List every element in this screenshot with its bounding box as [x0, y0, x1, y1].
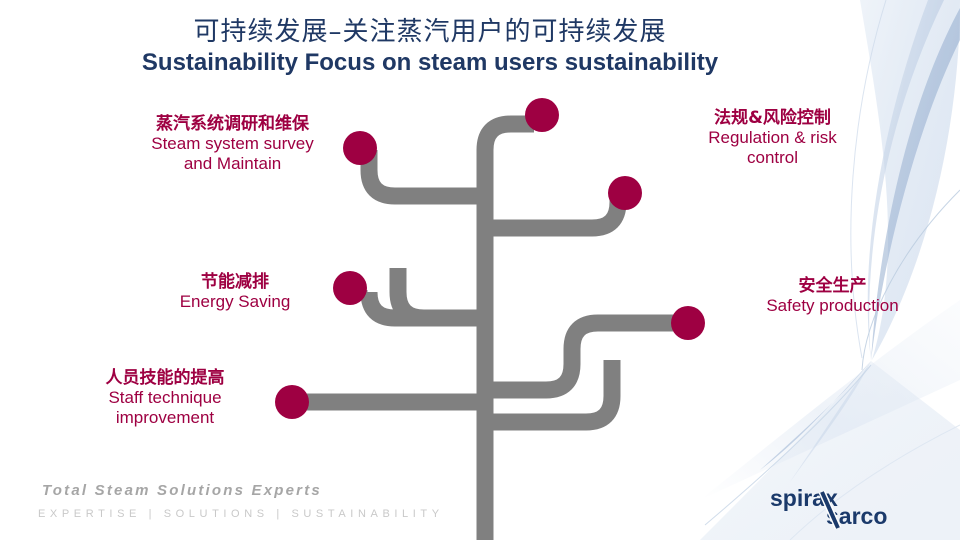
label-energy-chinese: 节能减排: [150, 272, 320, 292]
page-title: 可持续发展–关注蒸汽用户的可持续发展 Sustainability Focus …: [0, 16, 860, 78]
branch-to-safety-node: [485, 323, 678, 390]
label-staff-chinese: 人员技能的提高: [70, 368, 260, 388]
node-energy-saving: [333, 271, 367, 305]
footer-pillars: EXPERTISE | SOLUTIONS | SUSTAINABILITY: [38, 508, 444, 520]
label-regulation-chinese: 法规&风险控制: [665, 108, 880, 128]
node-safety-production: [671, 306, 705, 340]
page-title-english: Sustainability Focus on steam users sust…: [0, 48, 860, 78]
label-regulation-risk-control: 法规&风险控制 Regulation & risk control: [665, 108, 880, 168]
label-survey-english-line1: Steam system survey: [120, 134, 345, 154]
slide-canvas: 可持续发展–关注蒸汽用户的可持续发展 Sustainability Focus …: [0, 0, 960, 540]
node-staff-technique: [275, 385, 309, 419]
node-regulation-top: [525, 98, 559, 132]
label-regulation-english-line2: control: [665, 148, 880, 168]
label-survey-chinese: 蒸汽系统调研和维保: [120, 114, 345, 134]
label-energy-english-line1: Energy Saving: [150, 292, 320, 312]
label-survey-english-line2: and Maintain: [120, 154, 345, 174]
branch-to-energy-node: [369, 292, 485, 318]
label-staff-technique: 人员技能的提高 Staff technique improvement: [70, 368, 260, 428]
spirax-sarco-logo: spirax sarco: [768, 484, 948, 532]
label-safety-production: 安全生产 Safety production: [735, 276, 930, 316]
branch-to-top-node: [485, 124, 534, 235]
label-safety-chinese: 安全生产: [735, 276, 930, 296]
label-safety-english-line1: Safety production: [735, 296, 930, 316]
branch-to-survey-node: [369, 150, 485, 196]
label-energy-saving: 节能减排 Energy Saving: [150, 272, 320, 312]
label-steam-system-survey: 蒸汽系统调研和维保 Steam system survey and Mainta…: [120, 114, 345, 174]
branch-tree-diagram: [0, 0, 960, 540]
label-staff-english-line1: Staff technique: [70, 388, 260, 408]
label-regulation-english-line1: Regulation & risk: [665, 128, 880, 148]
node-steam-system-survey: [343, 131, 377, 165]
branch-to-upper-right-node: [485, 193, 618, 228]
footer-tagline: Total Steam Solutions Experts: [42, 482, 322, 499]
node-regulation-right: [608, 176, 642, 210]
page-title-chinese: 可持续发展–关注蒸汽用户的可持续发展: [0, 16, 860, 48]
label-staff-english-line2: improvement: [70, 408, 260, 428]
